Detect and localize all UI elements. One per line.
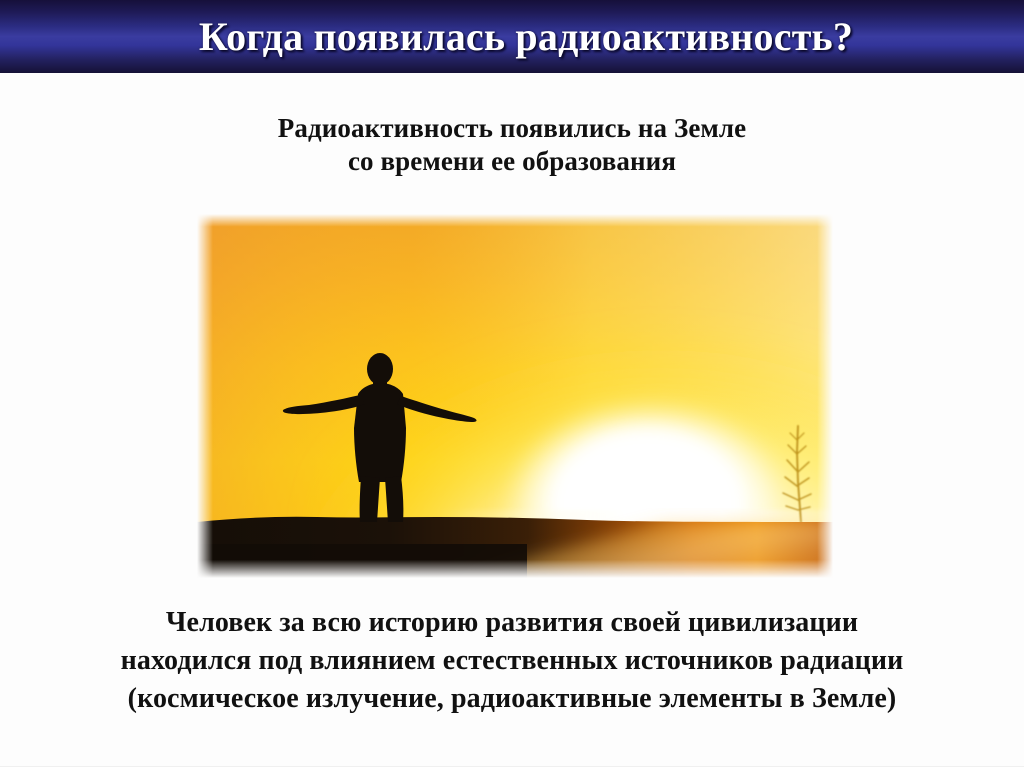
body-line-2: находился под влиянием естественных исто… bbox=[0, 642, 1024, 680]
page-title: Когда появилась радиоактивность? bbox=[0, 0, 1024, 73]
body-line-1: Человек за всю историю развития своей ци… bbox=[0, 604, 1024, 642]
presentation-slide: Когда появилась радиоактивность? Радиоак… bbox=[0, 0, 1024, 767]
subtitle-line-1: Радиоактивность появились на Земле bbox=[0, 112, 1024, 145]
subtitle-block: Радиоактивность появились на Земле со вр… bbox=[0, 112, 1024, 178]
sunset-photo bbox=[197, 214, 833, 578]
body-paragraph: Человек за всю историю развития своей ци… bbox=[0, 604, 1024, 718]
subtitle-line-2: со времени ее образования bbox=[0, 145, 1024, 178]
body-line-3: (космическое излучение, радиоактивные эл… bbox=[0, 680, 1024, 718]
sunset-photo-graphic bbox=[197, 214, 833, 578]
